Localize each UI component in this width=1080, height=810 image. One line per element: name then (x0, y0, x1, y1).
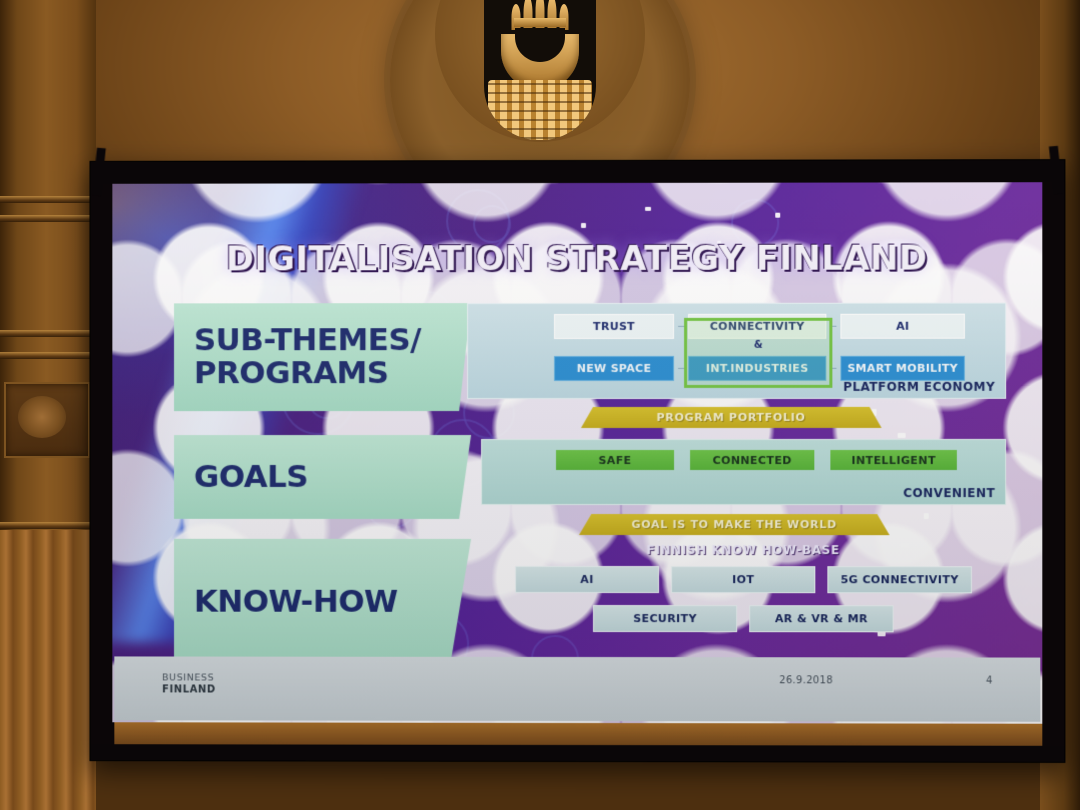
know-cell-ai[interactable]: AI (515, 566, 659, 593)
row-label-text: GOALS (194, 461, 308, 494)
wall-molding (0, 522, 96, 529)
highlight-box-connectivity (684, 318, 832, 388)
slide-canvas: DIGITALISATION STRATEGY FINLAND SUB-THEM… (112, 182, 1042, 724)
banner-goal-is-to-make-the-world: GOAL IS TO MAKE THE WORLD (579, 514, 890, 535)
business-finland-logo: BUSINESS FINLAND (162, 672, 216, 696)
know-cell-iot[interactable]: IOT (671, 566, 815, 593)
slide-title: DIGITALISATION STRATEGY FINLAND (112, 238, 1042, 278)
goals-panel: SAFE CONNECTED INTELLIGENT CONVENIENT (481, 439, 1006, 505)
crown-base (514, 18, 566, 27)
wheat-sheaf-icon (488, 80, 592, 140)
rosette-ornament-icon (18, 396, 66, 438)
wall-molding (0, 352, 96, 359)
banner-program-portfolio: PROGRAM PORTFOLIO (581, 407, 882, 428)
coat-of-arms-icon (484, 0, 596, 140)
know-cell-5g-connectivity[interactable]: 5G CONNECTIVITY (827, 566, 972, 593)
goal-cell-intelligent[interactable]: INTELLIGENT (830, 450, 956, 470)
theme-cell-trust[interactable]: TRUST (554, 313, 674, 338)
logo-line2: FINLAND (162, 684, 216, 697)
projected-slide: DIGITALISATION STRATEGY FINLAND SUB-THEM… (112, 182, 1042, 724)
row-label-text: KNOW-HOW (194, 585, 398, 618)
know-how-panel: FINNISH KNOW HOW-BASE AI IOT 5G CONNECTI… (481, 539, 1006, 660)
footer-page-number: 4 (986, 676, 992, 687)
label-convenient: CONVENIENT (903, 486, 995, 500)
screen-frame-top (90, 160, 1064, 184)
projection-screen-frame: DIGITALISATION STRATEGY FINLAND SUB-THEM… (89, 159, 1065, 763)
row-label-line1: SUB-THEMES/ (194, 324, 421, 357)
curtain (0, 530, 96, 810)
row-goals: GOALS SAFE CONNECTED INTELLIGENT CONVENI… (112, 435, 1042, 519)
goal-cell-safe[interactable]: SAFE (556, 450, 674, 470)
theme-cell-ai[interactable]: AI (840, 313, 964, 338)
wall-molding (0, 330, 96, 337)
goal-boxes: SAFE CONNECTED INTELLIGENT (556, 450, 957, 470)
screen-lower-gap (114, 722, 1042, 746)
know-cell-ar-vr-mr[interactable]: AR & VR & MR (749, 605, 893, 632)
know-how-heading: FINNISH KNOW HOW-BASE (481, 543, 1006, 557)
row-sub-themes: SUB-THEMES/ PROGRAMS & TRUST – CONNECTIV… (112, 303, 1042, 412)
row-know-how: KNOW-HOW FINNISH KNOW HOW-BASE AI IOT 5G… (112, 539, 1042, 666)
row-label-goals: GOALS (174, 435, 471, 519)
slide-footer: BUSINESS FINLAND 26.9.2018 4 (114, 656, 1040, 721)
theme-cell-smart-mobility[interactable]: SMART MOBILITY (840, 355, 964, 380)
goal-cell-connected[interactable]: CONNECTED (690, 450, 814, 470)
row-label-sub-themes: SUB-THEMES/ PROGRAMS (174, 303, 471, 411)
sub-themes-grid: & TRUST – CONNECTIVITY – AI NEW SPACE – … (554, 314, 973, 384)
wall-molding (0, 215, 96, 222)
grid-joiner: & (684, 340, 832, 351)
know-how-row-1: AI IOT 5G CONNECTIVITY (481, 566, 1006, 593)
know-cell-security[interactable]: SECURITY (593, 605, 737, 632)
row-label-know-how: KNOW-HOW (174, 539, 471, 665)
theme-cell-new-space[interactable]: NEW SPACE (554, 355, 674, 380)
sub-themes-panel: & TRUST – CONNECTIVITY – AI NEW SPACE – … (467, 303, 1006, 399)
logo-line1: BUSINESS (162, 672, 214, 683)
wall-molding (0, 196, 96, 203)
footer-date: 26.9.2018 (779, 675, 833, 686)
label-platform-economy: PLATFORM ECONOMY (843, 380, 995, 394)
screen-frame-bottom (90, 744, 1064, 762)
row-label-line2: PROGRAMS (194, 357, 421, 390)
know-how-row-2: SECURITY AR & VR & MR (481, 605, 1006, 633)
